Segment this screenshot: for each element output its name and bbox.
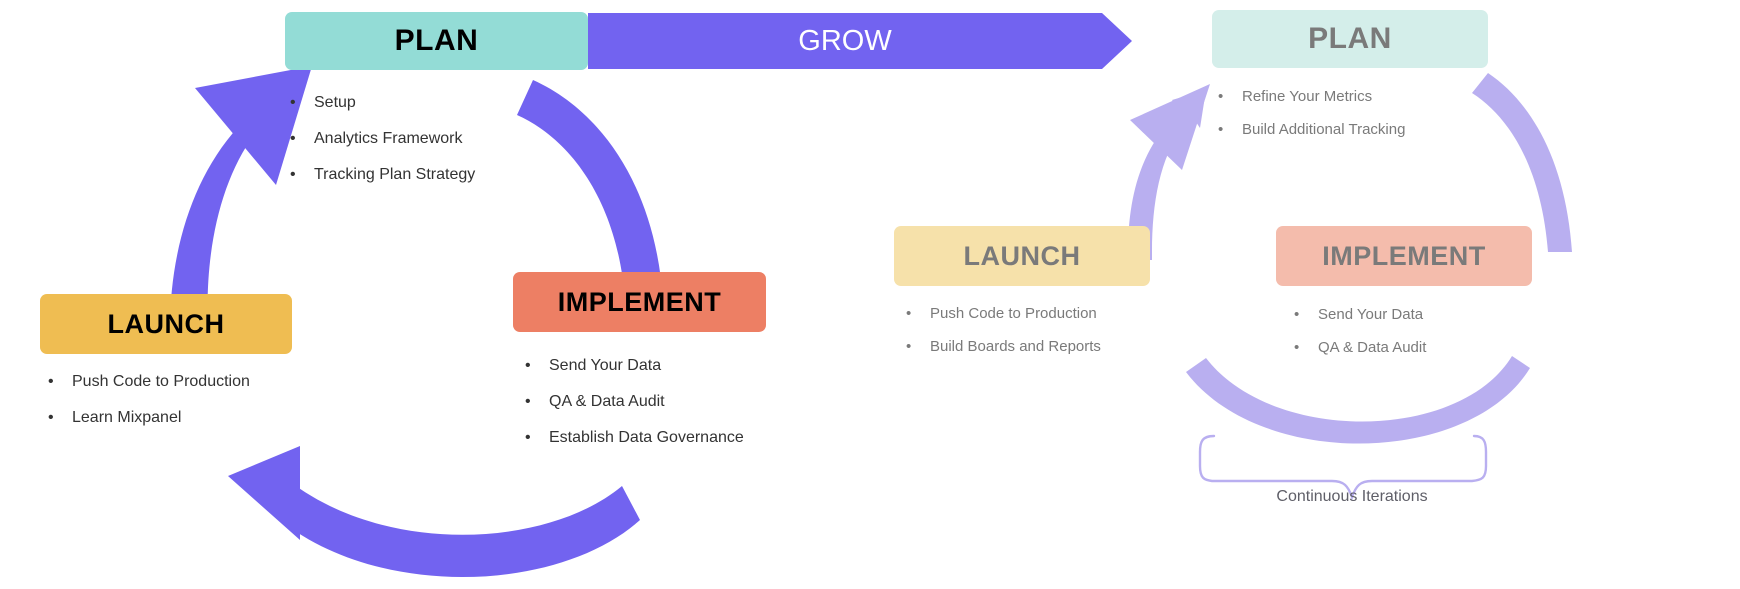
list-item: • Build Additional Tracking [1218, 121, 1518, 139]
bullet-text: Send Your Data [549, 356, 825, 375]
list-item: • Send Your Data [525, 356, 825, 375]
right-launch-box[interactable]: LAUNCH [894, 226, 1150, 286]
grow-label-wrap: GROW [588, 12, 1102, 70]
bullet-dot: • [290, 93, 314, 112]
bullet-text: Establish Data Governance [549, 428, 825, 447]
right-implement-title: IMPLEMENT [1322, 243, 1486, 270]
list-item: • QA & Data Audit [1294, 339, 1594, 357]
left-plan-box[interactable]: PLAN [285, 12, 588, 70]
left-implement-box[interactable]: IMPLEMENT [513, 272, 766, 332]
bullet-text: QA & Data Audit [549, 392, 825, 411]
list-item: • Push Code to Production [906, 305, 1206, 323]
bullet-dot: • [525, 392, 549, 411]
bullet-dot: • [48, 372, 72, 391]
bullet-dot: • [906, 338, 930, 356]
left-implement-bullets: • Send Your Data • QA & Data Audit • Est… [525, 356, 825, 448]
left-launch-title: LAUNCH [108, 311, 225, 338]
bullet-text: Learn Mixpanel [72, 408, 338, 427]
bullet-dot: • [1218, 88, 1242, 106]
continuous-iterations-caption-wrap: Continuous Iterations [1184, 488, 1520, 506]
bullet-text: Build Additional Tracking [1242, 121, 1518, 139]
left-launch-bullets: • Push Code to Production • Learn Mixpan… [48, 372, 338, 427]
list-item: • Send Your Data [1294, 306, 1594, 324]
list-item: • Setup [290, 93, 580, 112]
list-item: • QA & Data Audit [525, 392, 825, 411]
right-launch-bullets: • Push Code to Production • Build Boards… [906, 305, 1206, 356]
list-item: • Establish Data Governance [525, 428, 825, 447]
list-item: • Build Boards and Reports [906, 338, 1206, 356]
bullet-dot: • [1218, 121, 1242, 139]
bullet-dot: • [1294, 339, 1318, 357]
left-plan-bullets: • Setup • Analytics Framework • Tracking… [290, 93, 580, 185]
list-item: • Analytics Framework [290, 129, 580, 148]
bullet-text: Push Code to Production [930, 305, 1206, 323]
bullet-dot: • [906, 305, 930, 323]
left-plan-title: PLAN [395, 26, 479, 56]
right-implement-bullets: • Send Your Data • QA & Data Audit [1294, 306, 1594, 357]
list-item: • Push Code to Production [48, 372, 338, 391]
right-plan-bullets: • Refine Your Metrics • Build Additional… [1218, 88, 1518, 139]
left-implement-title: IMPLEMENT [558, 289, 722, 316]
bullet-text: QA & Data Audit [1318, 339, 1594, 357]
arrow-implement-to-launch-right [1186, 356, 1530, 444]
bullet-dot: • [290, 129, 314, 148]
arrow-implement-to-launch [228, 446, 640, 577]
bullet-text: Build Boards and Reports [930, 338, 1206, 356]
continuous-iterations-caption: Continuous Iterations [1276, 488, 1427, 505]
grow-label: GROW [798, 25, 891, 58]
bullet-dot: • [48, 408, 72, 427]
list-item: • Tracking Plan Strategy [290, 165, 580, 184]
bullet-text: Push Code to Production [72, 372, 338, 391]
diagram-canvas: PLAN • Setup • Analytics Framework • Tra… [0, 0, 1740, 589]
right-plan-box[interactable]: PLAN [1212, 10, 1488, 68]
right-launch-title: LAUNCH [964, 243, 1081, 270]
bullet-text: Send Your Data [1318, 306, 1594, 324]
left-launch-box[interactable]: LAUNCH [40, 294, 292, 354]
bullet-dot: • [1294, 306, 1318, 324]
right-implement-box[interactable]: IMPLEMENT [1276, 226, 1532, 286]
list-item: • Refine Your Metrics [1218, 88, 1518, 106]
list-item: • Learn Mixpanel [48, 408, 338, 427]
bullet-dot: • [290, 165, 314, 184]
right-plan-title: PLAN [1308, 24, 1392, 54]
bullet-dot: • [525, 356, 549, 375]
bullet-text: Tracking Plan Strategy [314, 165, 580, 184]
bullet-dot: • [525, 428, 549, 447]
bullet-text: Setup [314, 93, 580, 112]
bullet-text: Analytics Framework [314, 129, 580, 148]
bullet-text: Refine Your Metrics [1242, 88, 1518, 106]
